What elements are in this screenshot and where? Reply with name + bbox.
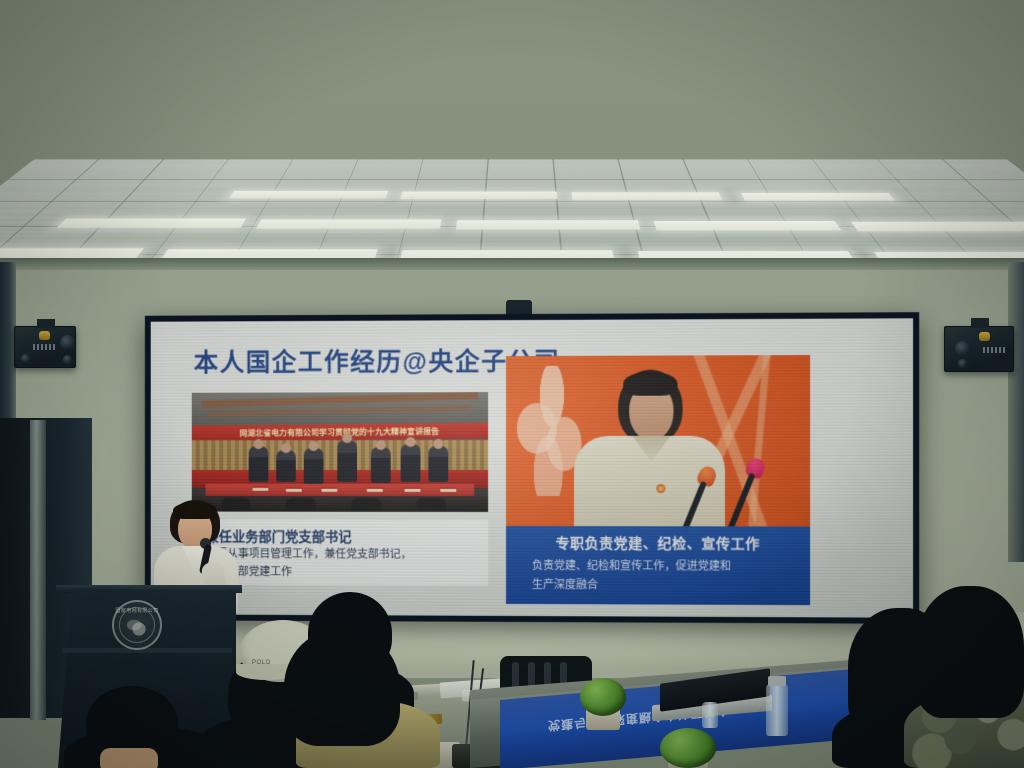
- photo-person: [401, 444, 421, 482]
- speaker-tweeter-icon: [958, 359, 967, 368]
- cap-logo-text: POLO: [252, 660, 271, 666]
- water-bottle: [702, 702, 718, 728]
- photo-nameplate: [253, 486, 269, 491]
- speaker-brand-label: [983, 347, 1005, 353]
- speaker-bracket: [971, 318, 989, 328]
- photo-nameplate: [322, 487, 338, 492]
- speaker-badge-icon: [979, 332, 990, 341]
- speaker-bracket: [37, 319, 55, 328]
- projection-surface: 本人国企工作经历@央企子公司 网湖北省电力有限公司学习贯彻党的十九大精神宣讲报告: [151, 318, 913, 617]
- photo-person: [371, 447, 391, 483]
- photo-person: [304, 448, 324, 484]
- audience-head: [916, 586, 1024, 718]
- caption-right-line1: 负责党建、纪检和宣传工作，促进党建和: [532, 557, 731, 574]
- ceiling-light-panel: [229, 191, 388, 198]
- speaker-tweeter-icon: [21, 354, 30, 363]
- speaker-woofer-icon: [60, 335, 75, 350]
- ceiling-light-panel: [571, 192, 722, 199]
- photo-chair: [351, 498, 381, 512]
- podium-emblem: 国家电网有限公司: [112, 600, 162, 650]
- thermos-bottle: [766, 684, 788, 736]
- photo-chair: [286, 498, 316, 512]
- photo-person: [276, 450, 296, 482]
- audience-head: [284, 628, 400, 746]
- photo-nameplate: [367, 487, 383, 492]
- ceiling-light-panel: [741, 193, 895, 200]
- speaker-tweeter-icon: [63, 355, 72, 364]
- ceiling-light-panel: [57, 219, 247, 228]
- photo-speaker-fringe: [623, 372, 677, 396]
- wall-speaker-left: [14, 326, 76, 368]
- speaker-woofer-icon: [955, 341, 970, 356]
- caption-right-line2: 生产深度融合: [532, 576, 598, 592]
- photo-nameplate: [286, 487, 302, 492]
- projection-screen: 本人国企工作经历@央企子公司 网湖北省电力有限公司学习贯彻党的十九大精神宣讲报告: [145, 312, 919, 624]
- slide-left-photo: 网湖北省电力有限公司学习贯彻党的十九大精神宣讲报告: [192, 392, 488, 512]
- speaker-brand-label: [33, 344, 55, 350]
- speaker-badge-icon: [39, 331, 50, 340]
- audience-hand: [100, 748, 158, 768]
- slide-caption-right: 专职负责党建、纪检、宣传工作 负责党建、纪检和宣传工作，促进党建和 生产深度融合: [506, 526, 810, 605]
- conference-room-photo: 本人国企工作经历@央企子公司 网湖北省电力有限公司学习贯彻党的十九大精神宣讲报告: [0, 0, 1024, 768]
- potted-plant: [580, 678, 626, 716]
- presenter-fringe: [173, 502, 217, 519]
- photo-red-banner: 网湖北省电力有限公司学习贯彻党的十九大精神宣讲报告: [192, 423, 488, 442]
- podium-trim: [62, 648, 232, 653]
- ceiling-light-panel: [400, 192, 557, 199]
- ceiling-light-panel: [654, 221, 842, 230]
- photo-nameplate: [405, 487, 421, 492]
- wall-right-column: [1008, 262, 1024, 562]
- photo-person: [428, 446, 448, 482]
- photo-party-badge-icon: [656, 484, 665, 493]
- potted-plant: [660, 728, 716, 768]
- thermos-cap: [768, 676, 786, 686]
- podium-emblem-text: 国家电网有限公司: [114, 607, 160, 614]
- photo-person: [249, 446, 269, 482]
- ceiling-light-panel: [851, 222, 1024, 231]
- photo-nameplate: [440, 487, 456, 492]
- cabinet-edge: [30, 420, 46, 720]
- wall-speaker-right: [944, 326, 1014, 372]
- photo-person: [337, 440, 357, 482]
- presentation-slide: 本人国企工作经历@央企子公司 网湖北省电力有限公司学习贯彻党的十九大精神宣讲报告: [151, 318, 913, 617]
- ceiling-light-panel: [456, 220, 640, 229]
- ceiling-light-panel: [256, 219, 442, 228]
- caption-right-heading: 专职负责党建、纪检、宣传工作: [506, 533, 810, 554]
- podium-emblem-graphic: [127, 617, 151, 637]
- slide-right-photo: [506, 355, 810, 526]
- photo-chair: [416, 498, 446, 512]
- wall-top-trim: [0, 258, 1024, 270]
